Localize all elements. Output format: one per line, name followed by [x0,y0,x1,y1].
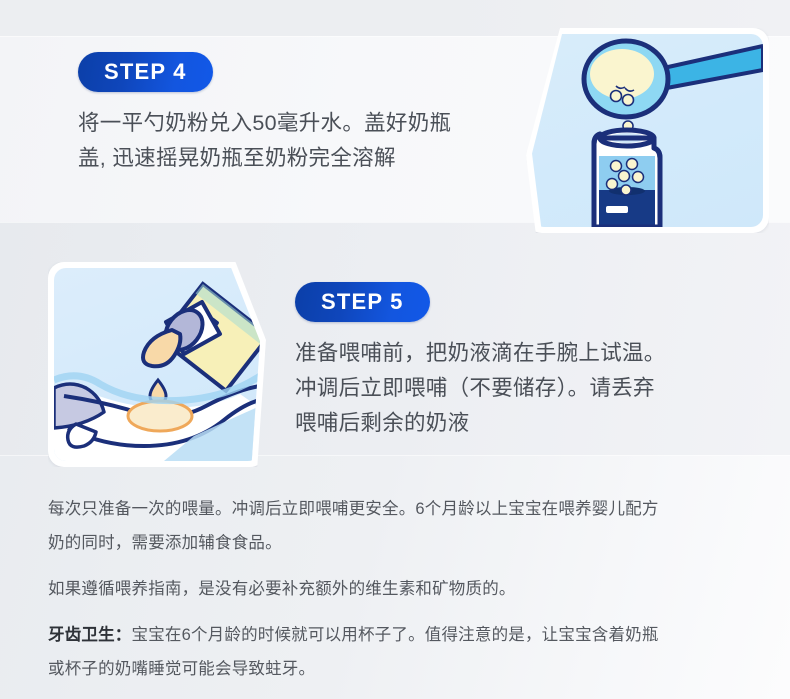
note-paragraph-2: 如果遵循喂养指南，是没有必要补充额外的维生素和矿物质的。 [48,572,754,606]
bottle-dripping-milk-on-wrist-icon [54,268,260,461]
note-paragraph-3-label: 牙齿卫生： [48,626,132,644]
infographic-page: STEP 4 将一平勺奶粉兑入50毫升水。盖好奶瓶 盖, 迅速摇晃奶瓶至奶粉完全… [0,0,790,699]
step-4-badge: STEP 4 [78,52,213,92]
step-4-block: STEP 4 将一平勺奶粉兑入50毫升水。盖好奶瓶 盖, 迅速摇晃奶瓶至奶粉完全… [78,52,518,176]
step-5-illustration-canvas [54,268,260,461]
note-paragraph-3-body: 宝宝在6个月龄的时候就可以用杯子了。值得注意的是，让宝宝含着奶瓶 或杯子的奶嘴睡… [48,626,659,678]
step-5-block: STEP 5 准备喂哺前，把奶液滴在手腕上试温。 冲调后立即喂哺（不要储存）。请… [295,282,745,441]
step-4-illustration-canvas [532,34,763,227]
step-5-text: 准备喂哺前，把奶液滴在手腕上试温。 冲调后立即喂哺（不要储存）。请丢弃 喂哺后剩… [295,336,745,441]
step-4-illustration [526,28,769,233]
scoop-pouring-powder-into-bottle-icon [532,34,763,227]
step-5-illustration [48,262,266,467]
step-5-badge: STEP 5 [295,282,430,322]
note-paragraph-3: 牙齿卫生：宝宝在6个月龄的时候就可以用杯子了。值得注意的是，让宝宝含着奶瓶 或杯… [48,618,754,686]
step-4-text: 将一平勺奶粉兑入50毫升水。盖好奶瓶 盖, 迅速摇晃奶瓶至奶粉完全溶解 [78,106,518,176]
bottom-notes: 每次只准备一次的喂量。冲调后立即喂哺更安全。6个月龄以上宝宝在喂养婴儿配方 奶的… [48,492,754,686]
note-paragraph-1: 每次只准备一次的喂量。冲调后立即喂哺更安全。6个月龄以上宝宝在喂养婴儿配方 奶的… [48,492,754,560]
